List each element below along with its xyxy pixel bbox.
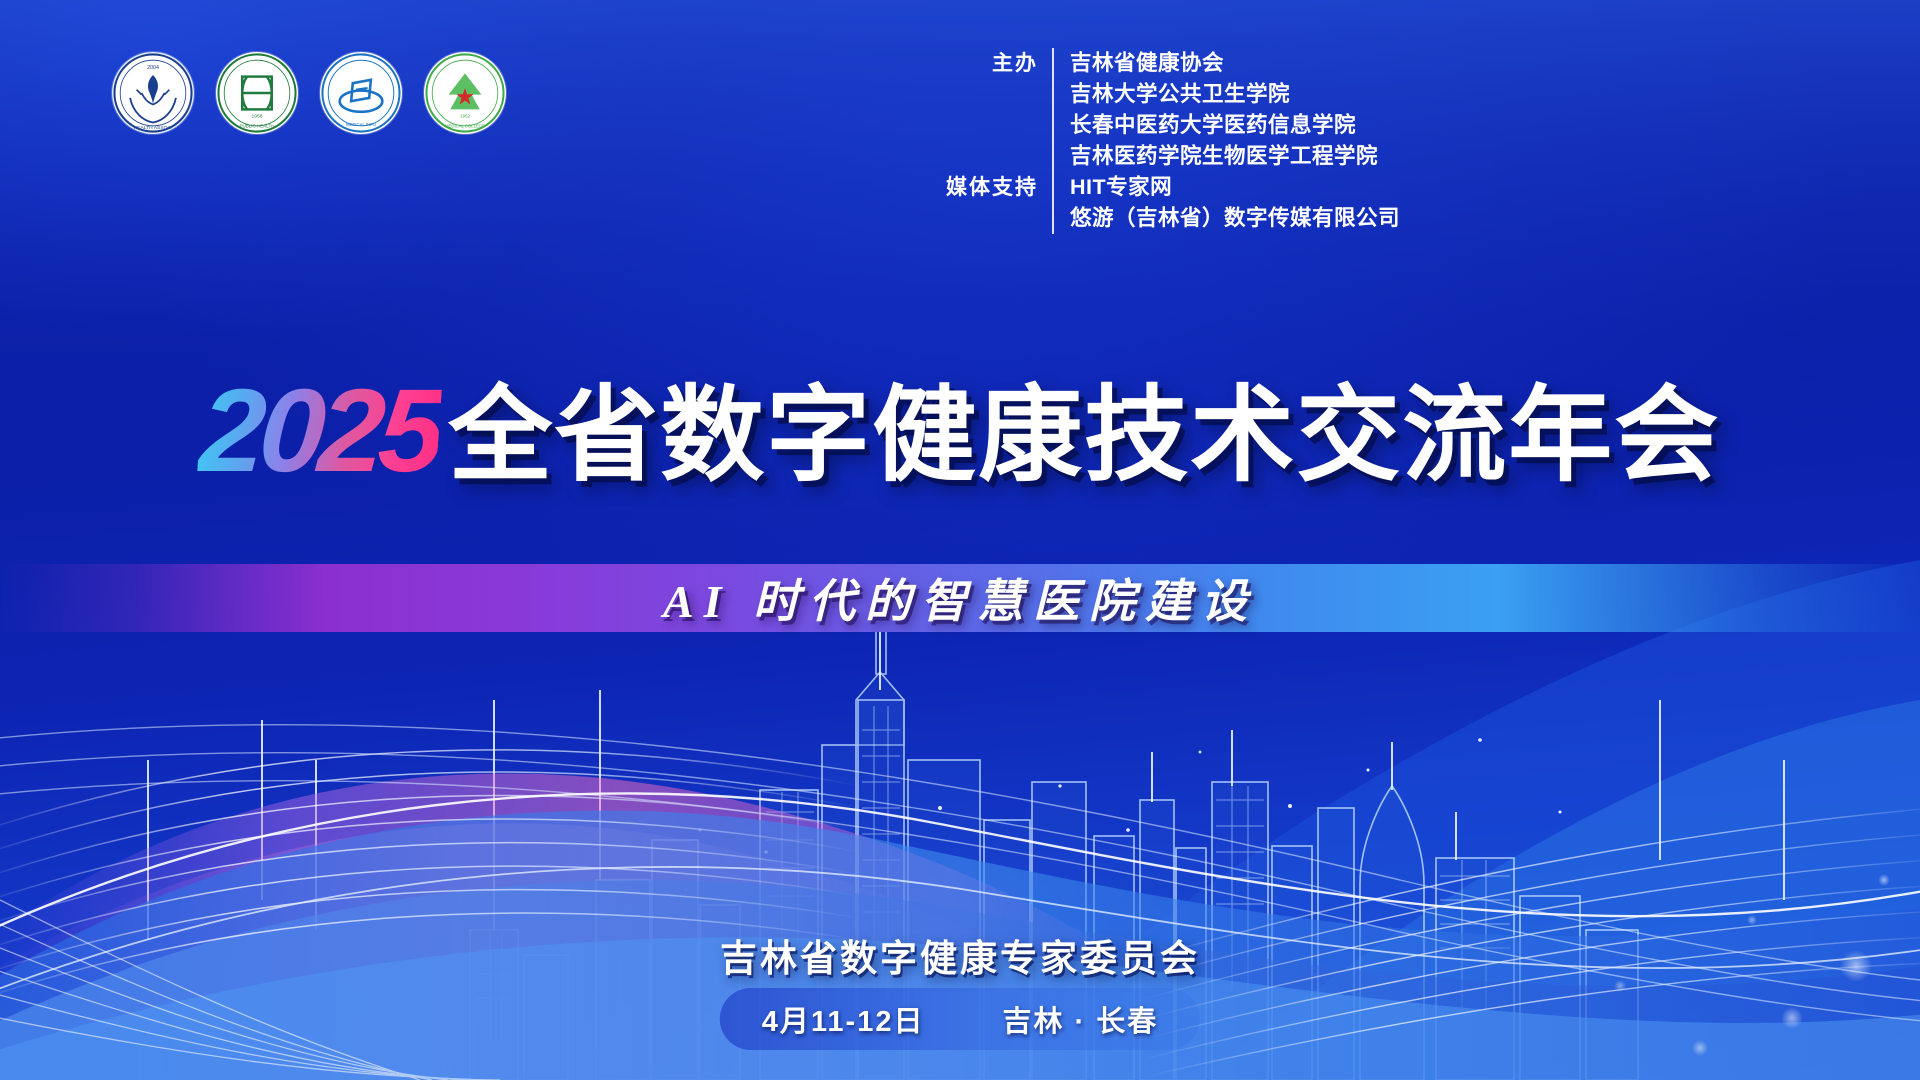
media-support-label: 媒体支持	[944, 172, 1052, 203]
host-name-list: 吉林省健康协会 吉林大学公共卫生学院 长春中医药大学医药信息学院 吉林医药学院生…	[1052, 48, 1378, 172]
svg-text:HEALTH ASSOC.: HEALTH ASSOC.	[134, 125, 173, 131]
svg-text:MEDICAL INFO: MEDICAL INFO	[346, 122, 377, 127]
main-title-area: 2025 全省数字健康技术交流年会	[0, 372, 1920, 490]
jilin-health-association-logo: 2004 HEALTH ASSOC.	[112, 52, 194, 134]
event-location: 吉林 · 长春	[1002, 998, 1158, 1040]
committee-name: 吉林省数字健康专家委员会	[0, 928, 1920, 982]
host-group: 主办 吉林省健康协会 吉林大学公共卫生学院 长春中医药大学医药信息学院 吉林医药…	[944, 48, 1400, 172]
media-name-list: HIT专家网 悠游（吉林省）数字传媒有限公司	[1052, 172, 1400, 234]
host-name: 长春中医药大学医药信息学院	[1070, 110, 1378, 141]
media-name: 悠游（吉林省）数字传媒有限公司	[1070, 203, 1400, 234]
conference-subtitle: AI 时代的智慧医院建设	[663, 565, 1257, 631]
svg-text:1952: 1952	[460, 114, 471, 119]
host-label: 主办	[944, 48, 1052, 79]
svg-text:PUBLIC HEALTH: PUBLIC HEALTH	[240, 123, 275, 128]
organizer-credits-block: 主办 吉林省健康协会 吉林大学公共卫生学院 长春中医药大学医药信息学院 吉林医药…	[944, 48, 1400, 234]
media-support-group: 媒体支持 HIT专家网 悠游（吉林省）数字传媒有限公司	[944, 172, 1400, 234]
host-name: 吉林省健康协会	[1070, 48, 1378, 79]
svg-text:MEDICAL COLLEGE: MEDICAL COLLEGE	[445, 123, 485, 128]
subtitle-band: AI 时代的智慧医院建设	[0, 564, 1920, 632]
date-location-capsule: 4月11-12日 吉林 · 长春	[720, 988, 1200, 1050]
event-date: 4月11-12日	[762, 998, 925, 1040]
jilin-medical-college-logo: 1952 MEDICAL COLLEGE	[424, 52, 506, 134]
host-name: 吉林医药学院生物医学工程学院	[1070, 141, 1378, 172]
host-name: 吉林大学公共卫生学院	[1070, 79, 1378, 110]
conference-banner: 2004 HEALTH ASSOC. 1958 PUBLIC HEALTH	[0, 0, 1920, 1080]
year-badge: 2025	[196, 372, 443, 490]
school-of-medical-information-logo: MEDICAL INFO	[320, 52, 402, 134]
media-name: HIT专家网	[1070, 172, 1400, 203]
svg-text:1958: 1958	[252, 114, 263, 120]
organizer-logo-row: 2004 HEALTH ASSOC. 1958 PUBLIC HEALTH	[112, 52, 506, 134]
svg-text:2004: 2004	[147, 65, 159, 71]
conference-title: 全省数字健康技术交流年会	[448, 384, 1720, 488]
school-of-public-health-jilin-university-logo: 1958 PUBLIC HEALTH	[216, 52, 298, 134]
title-line: 2025 全省数字健康技术交流年会	[200, 372, 1721, 490]
